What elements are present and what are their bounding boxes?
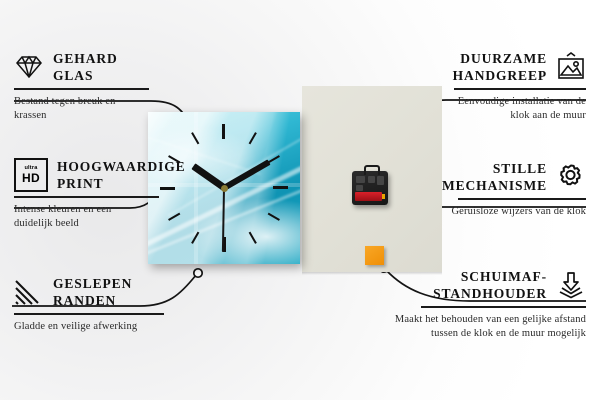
feature-schuimafstandhouder: SCHUIMAF- STANDHOUDER Maakt het behouden… [371,268,586,341]
feature-title-line2: PRINT [57,175,186,192]
hour-tick [224,187,288,189]
feature-description: Eenvoudige installatie van de klok aan d… [436,95,586,123]
divider [454,88,586,90]
mechanism-detail [356,185,363,191]
feature-title-line2: GLAS [53,67,118,84]
feature-stille-mechanisme: STILLE MECHANISME Geruisloze wijzers van… [371,160,586,219]
feature-description: Bestand tegen breuk en krassen [14,95,139,123]
divider [458,198,586,200]
divider [421,306,586,308]
picture-frame-icon [556,52,586,82]
feature-title-line2: STANDHOUDER [433,285,547,302]
feature-title-line1: SCHUIMAF- [433,268,547,285]
feature-title-line2: RANDEN [53,292,132,309]
diamond-icon [14,52,44,82]
divider [14,196,159,198]
spacer-arrow-icon [556,270,586,300]
feature-title-line1: DUURZAME [453,50,547,67]
infographic-canvas: GEHARD GLAS Bestand tegen breuk en krass… [0,0,600,400]
divider [14,313,164,315]
mechanism-detail [356,176,365,183]
feature-description: Intense kleuren en een duidelijk beeld [14,203,122,231]
feature-duurzame-handgreep: DUURZAME HANDGREEP Eenvoudige installati… [371,50,586,123]
foam-spacer [365,246,384,265]
ultra-hd-icon-main: HD [22,172,40,184]
feature-title-line2: MECHANISME [442,177,547,194]
feature-title-line1: GEHARD [53,50,118,67]
feature-description: Geruisloze wijzers van de klok [446,205,586,219]
feature-title-line1: STILLE [442,160,547,177]
feature-geslepen-randen: GESLEPEN RANDEN Gladde en veilige afwerk… [14,275,229,334]
ultra-hd-icon: ultra HD [14,158,48,192]
feature-description: Gladde en veilige afwerking [14,320,174,334]
diagonal-lines-icon [14,277,44,307]
feature-description: Maakt het behouden van een gelijke afsta… [390,313,586,341]
feature-hoogwaardige-print: ultra HD HOOGWAARDIGE PRINT Intense kleu… [14,158,229,231]
feature-gehard-glas: GEHARD GLAS Bestand tegen breuk en krass… [14,50,229,123]
feature-title-line2: HANDGREEP [453,67,547,84]
feature-title-line1: HOOGWAARDIGE [57,158,186,175]
gear-icon [556,162,586,192]
divider [14,88,149,90]
feature-title-line1: GESLEPEN [53,275,132,292]
